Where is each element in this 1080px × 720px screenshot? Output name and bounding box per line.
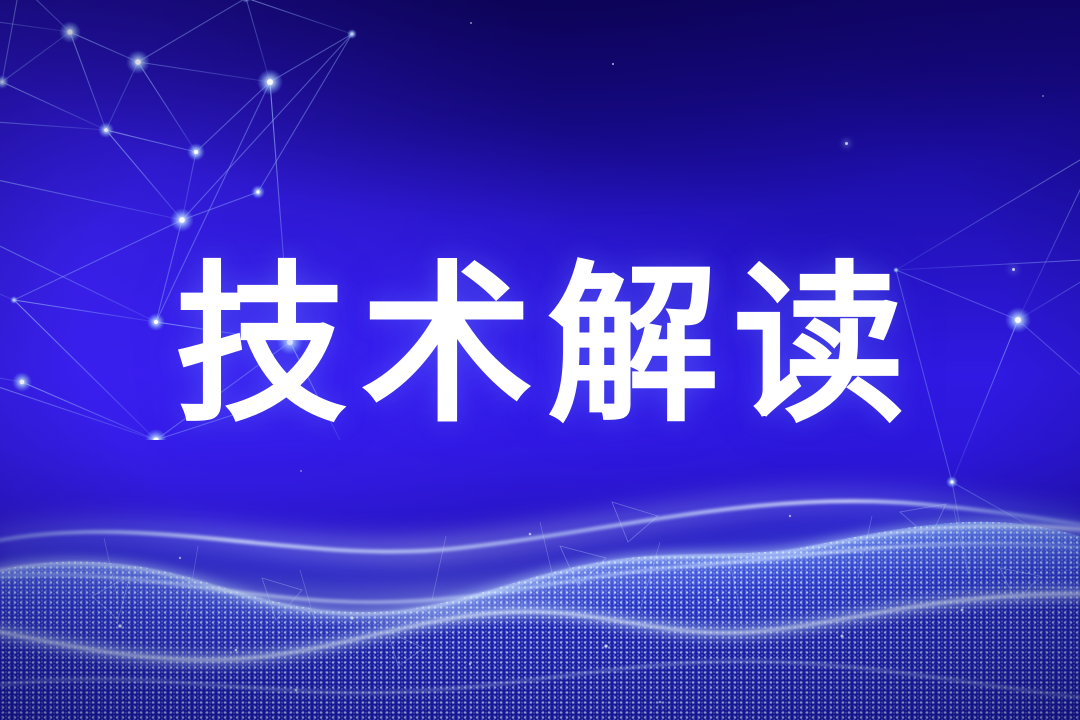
tech-banner: 技术解读 <box>0 0 1080 720</box>
page-title: 技术解读 <box>0 248 1080 444</box>
